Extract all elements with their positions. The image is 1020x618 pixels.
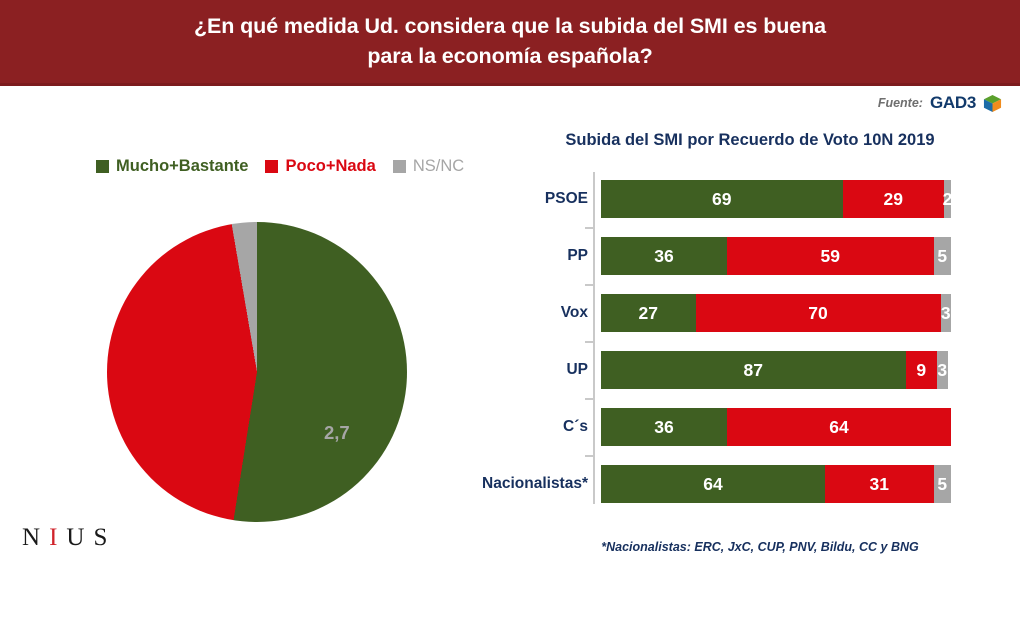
nius-logo-n: N <box>22 524 49 551</box>
bar-segment-value: 27 <box>639 303 658 324</box>
bar-segment-value: 64 <box>703 474 722 495</box>
axis-tick <box>585 341 594 343</box>
legend-label-poco-nada: Poco+Nada <box>285 157 375 176</box>
bar-segment-value: 2 <box>943 189 953 210</box>
legend-swatch-red <box>265 160 278 173</box>
bar-segment-ns-nc: 5 <box>934 237 952 275</box>
bar-row-label: PSOE <box>430 190 596 208</box>
axis-tick <box>585 398 594 400</box>
bar-segment-value: 59 <box>821 246 840 267</box>
pie-chart: 52,5 44,8 2,7 <box>107 222 407 522</box>
legend-item-poco-nada: Poco+Nada <box>265 157 375 176</box>
stacked-bar: 69292 <box>601 180 951 218</box>
stacked-bar: 3664 <box>601 408 951 446</box>
page-title: ¿En qué medida Ud. considera que la subi… <box>80 12 940 70</box>
bar-row-label: PP <box>430 247 596 265</box>
bar-segment-value: 31 <box>870 474 889 495</box>
bar-chart-title: Subida del SMI por Recuerdo de Voto 10N … <box>520 131 980 150</box>
bar-segment-value: 64 <box>829 417 848 438</box>
stacked-bar: 64315 <box>601 465 951 503</box>
cube-icon <box>983 94 1002 113</box>
bar-row: UP8793 <box>430 351 960 389</box>
legend: Mucho+Bastante Poco+Nada NS/NC <box>96 157 464 176</box>
bar-row: Vox27703 <box>430 294 960 332</box>
bar-segment-mucho-bastante: 36 <box>601 237 727 275</box>
bar-segment-value: 70 <box>808 303 827 324</box>
stacked-bar: 27703 <box>601 294 951 332</box>
legend-swatch-gray <box>393 160 406 173</box>
bar-segment-value: 5 <box>937 474 947 495</box>
page-title-line-1: ¿En qué medida Ud. considera que la subi… <box>80 12 940 41</box>
axis-tick <box>585 227 594 229</box>
legend-item-mucho-bastante: Mucho+Bastante <box>96 157 248 176</box>
bar-segment-poco-nada: 9 <box>906 351 938 389</box>
bar-segment-mucho-bastante: 87 <box>601 351 906 389</box>
bar-segment-poco-nada: 70 <box>696 294 941 332</box>
legend-swatch-green <box>96 160 109 173</box>
source-label: Fuente: <box>878 96 923 110</box>
bar-row: PP36595 <box>430 237 960 275</box>
stacked-bar: 36595 <box>601 237 951 275</box>
bar-segment-value: 36 <box>654 246 673 267</box>
nius-logo-u: U <box>66 524 93 551</box>
pie-label-mucho-bastante: 52,5 <box>310 594 351 618</box>
chart-footnote: *Nacionalistas: ERC, JxC, CUP, PNV, Bild… <box>560 540 960 554</box>
legend-label-mucho-bastante: Mucho+Bastante <box>116 157 248 176</box>
bar-segment-value: 3 <box>941 303 951 324</box>
bar-segment-value: 87 <box>744 360 763 381</box>
axis-tick <box>585 455 594 457</box>
header-banner: ¿En qué medida Ud. considera que la subi… <box>0 0 1020 83</box>
bar-segment-poco-nada: 64 <box>727 408 951 446</box>
nius-logo-s: S <box>93 524 116 551</box>
bar-segment-value: 29 <box>884 189 903 210</box>
bar-segment-value: 69 <box>712 189 731 210</box>
bar-segment-poco-nada: 29 <box>843 180 945 218</box>
stacked-bar: 8793 <box>601 351 948 389</box>
bar-chart: PSOE69292PP36595Vox27703UP8793C´s3664Nac… <box>430 172 960 504</box>
bar-segment-ns-nc: 2 <box>944 180 951 218</box>
nius-logo-i: I <box>49 524 66 551</box>
source-attribution: Fuente: GAD3 <box>878 93 1002 113</box>
bar-row-label: UP <box>430 361 596 379</box>
bar-row: C´s3664 <box>430 408 960 446</box>
bar-segment-ns-nc: 5 <box>934 465 952 503</box>
bar-segment-mucho-bastante: 64 <box>601 465 825 503</box>
bar-segment-mucho-bastante: 69 <box>601 180 843 218</box>
bar-row: Nacionalistas*64315 <box>430 465 960 503</box>
bar-row-label: Nacionalistas* <box>430 475 596 493</box>
bar-row: PSOE69292 <box>430 180 960 218</box>
page-title-line-2: para la economía española? <box>80 42 940 71</box>
source-brand: GAD3 <box>930 93 976 113</box>
bar-segment-value: 9 <box>916 360 926 381</box>
header-divider <box>0 83 1020 86</box>
bar-row-label: C´s <box>430 418 596 436</box>
pie-slices <box>107 222 407 522</box>
bar-segment-mucho-bastante: 36 <box>601 408 727 446</box>
bar-row-label: Vox <box>430 304 596 322</box>
bar-segment-ns-nc: 3 <box>941 294 952 332</box>
bar-segment-value: 36 <box>654 417 673 438</box>
pie-label-ns-nc: 2,7 <box>324 422 350 444</box>
bar-segment-value: 5 <box>937 246 947 267</box>
bar-segment-value: 3 <box>937 360 947 381</box>
bar-segment-mucho-bastante: 27 <box>601 294 696 332</box>
bar-segment-poco-nada: 31 <box>825 465 934 503</box>
bar-segment-ns-nc: 3 <box>937 351 948 389</box>
axis-tick <box>585 284 594 286</box>
bar-segment-poco-nada: 59 <box>727 237 934 275</box>
nius-logo: NIUS <box>22 524 116 552</box>
pie-label-poco-nada: 44,8 <box>215 583 256 607</box>
